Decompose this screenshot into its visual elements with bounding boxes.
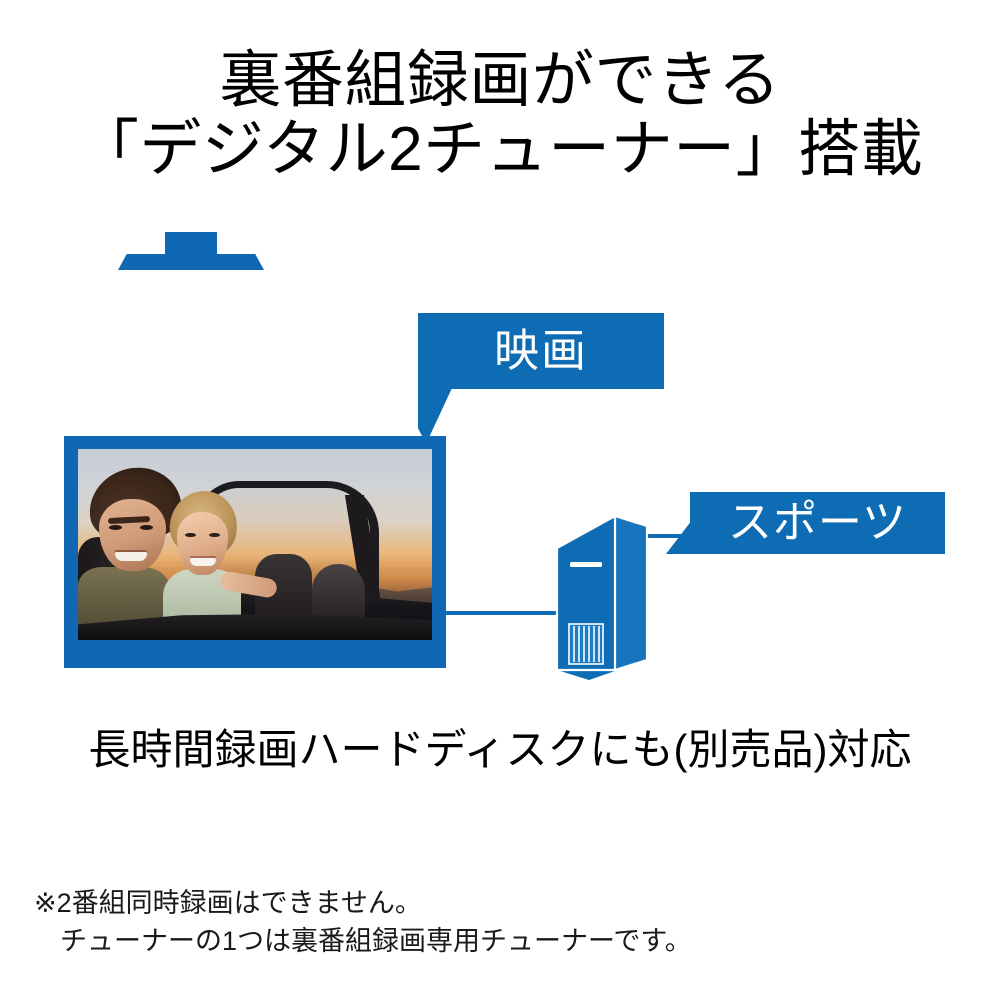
caption-text: 長時間録画ハードディスクにも(別売品)対応 (0, 716, 1000, 777)
footnote-line-2: チューナーの1つは裏番組録画専用チューナーです。 (34, 922, 934, 960)
callout-movie-label: 映画 (418, 313, 664, 389)
callout-sports: スポーツ (690, 492, 945, 554)
tv-screen (78, 449, 432, 640)
tv-to-hdd-connector-line (444, 611, 560, 615)
photo-man-smile (115, 552, 147, 561)
headline-line-1: 裏番組録画ができる (0, 46, 1000, 115)
page-title: 裏番組録画ができる 「デジタル2チューナー」搭載 (0, 46, 1000, 185)
photo-woman-eye-left (185, 533, 196, 537)
screen-photo-couple-in-convertible (78, 449, 432, 640)
callout-movie: 映画 (418, 313, 664, 389)
photo-woman-eye-right (209, 533, 220, 537)
photo-seat-right (312, 564, 365, 621)
tv-stand-base (118, 254, 264, 270)
footnote-line-1: ※2番組同時録画はできません。 (34, 884, 934, 922)
photo-woman-smile (190, 558, 217, 567)
product-feature-panel: 裏番組録画ができる 「デジタル2チューナー」搭載 映画 スポーツ (0, 0, 1000, 1000)
callout-movie-tail-icon (418, 388, 452, 444)
hard-disk-tower-icon (553, 512, 651, 684)
tv-stand-neck (165, 232, 217, 256)
callout-sports-label: スポーツ (690, 492, 945, 554)
callout-sports-tail-icon (666, 520, 692, 554)
footnote: ※2番組同時録画はできません。 チューナーの1つは裏番組録画専用チューナーです。 (34, 884, 934, 961)
tv-illustration (64, 436, 446, 668)
headline-line-2: 「デジタル2チューナー」搭載 (0, 115, 1000, 184)
